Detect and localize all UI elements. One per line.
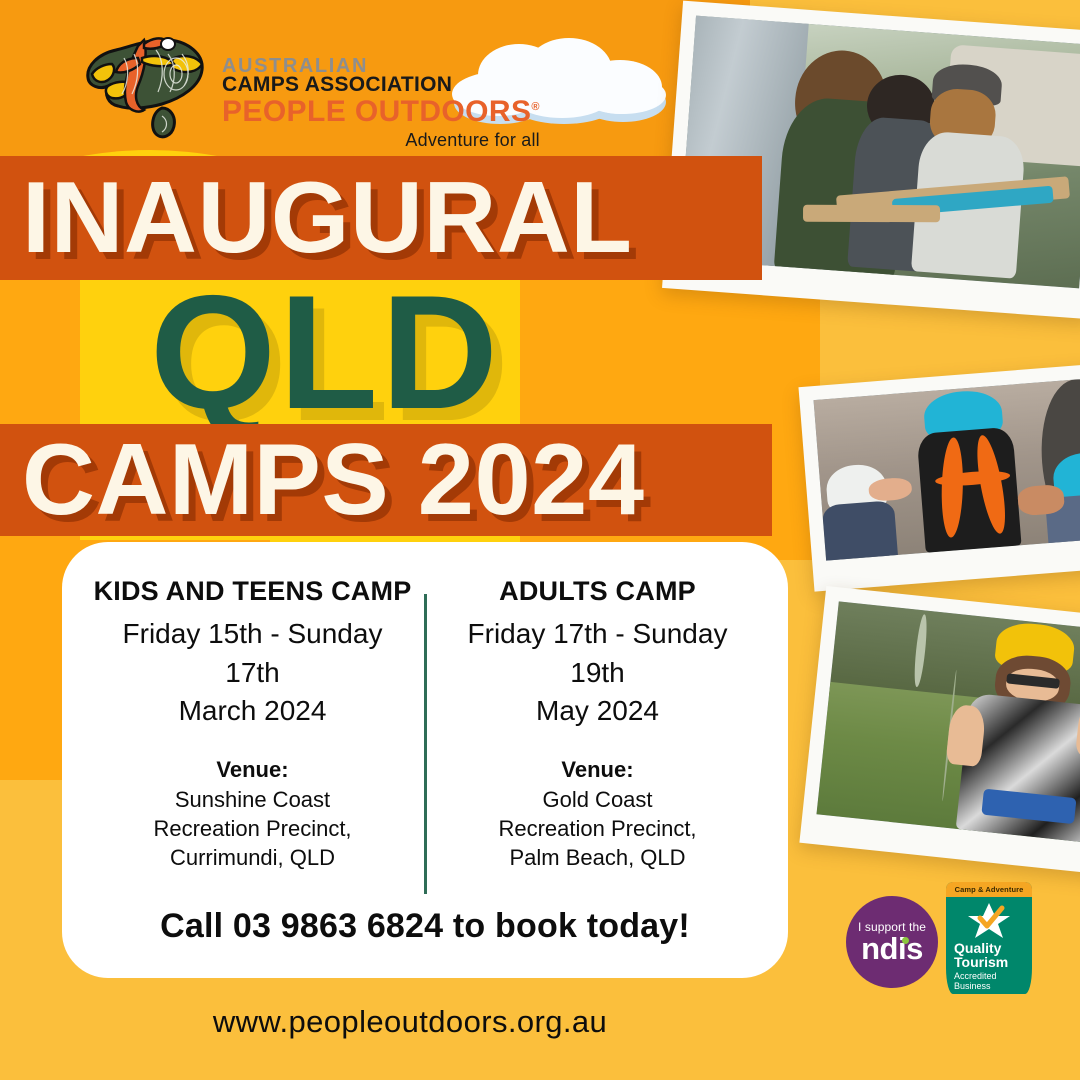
poster-canvas: AUSTRALIAN CAMPS ASSOCIATION PEOPLE OUTD…: [0, 0, 1080, 1080]
website-url[interactable]: www.peopleoutdoors.org.au: [0, 1004, 820, 1040]
venue-label-adults: Venue:: [437, 757, 758, 783]
climbing-highfive-photo: [798, 361, 1080, 591]
camp-column-kids-teens: KIDS AND TEENS CAMP Friday 15th - Sunday…: [80, 576, 425, 872]
camp-title-adults: ADULTS CAMP: [437, 576, 758, 607]
venue-address-adults: Gold Coast Recreation Precinct, Palm Bea…: [437, 785, 758, 872]
headline-band-camps: CAMPS 2024: [0, 424, 772, 536]
call-to-action-phone[interactable]: Call 03 9863 6824 to book today!: [80, 907, 770, 958]
headline-camps-2024: CAMPS 2024: [0, 430, 645, 531]
thumbs-up-participant-photo: [799, 586, 1080, 876]
logo-tagline: Adventure for all: [222, 131, 540, 149]
quality-tourism-ribbon: Camp & Adventure: [946, 882, 1032, 897]
venue-address-kids-teens: Sunshine Coast Recreation Precinct, Curr…: [92, 785, 413, 872]
accreditation-badges: I support the ndis Camp & Adventure Qual…: [846, 882, 1032, 994]
australia-map-indigenous-art-icon: [78, 24, 214, 144]
logo-people-outdoors-text: PEOPLE OUTDOORS: [222, 95, 531, 128]
climbing-photo-image: [814, 376, 1080, 560]
ndis-word-text: ndis: [861, 931, 923, 966]
qt-name-line2: Tourism: [954, 955, 1032, 969]
logo-line-people-outdoors: PEOPLE OUTDOORS®: [222, 97, 540, 128]
quality-tourism-subtitle: Accredited Business: [946, 971, 1032, 992]
brand-logo: AUSTRALIAN CAMPS ASSOCIATION PEOPLE OUTD…: [78, 24, 540, 150]
venue-line2: Recreation Precinct,: [437, 814, 758, 843]
venue-label-kids-teens: Venue:: [92, 757, 413, 783]
headline-qld: QLD: [150, 272, 501, 434]
venue-line1: Gold Coast: [437, 785, 758, 814]
registered-trademark-icon: ®: [531, 101, 540, 113]
camp-column-adults: ADULTS CAMP Friday 17th - Sunday 19th Ma…: [425, 576, 770, 872]
qt-sub-line1: Accredited: [954, 971, 1032, 981]
qt-sub-line2: Business: [954, 981, 1032, 991]
headline-inaugural: INAUGURAL: [0, 168, 632, 269]
camp-dates-adults: Friday 17th - Sunday 19th May 2024: [437, 615, 758, 731]
venue-line3: Palm Beach, QLD: [437, 843, 758, 872]
thumbsup-photo-image: [816, 601, 1080, 844]
camp-title-kids-teens: KIDS AND TEENS CAMP: [92, 576, 413, 607]
column-divider: [424, 594, 427, 894]
quality-tourism-badge: Camp & Adventure Quality Tourism Accredi…: [946, 882, 1032, 994]
venue-line1: Sunshine Coast: [92, 785, 413, 814]
quality-tourism-name: Quality Tourism: [946, 941, 1032, 969]
camp-dates-line2: March 2024: [92, 692, 413, 731]
ndis-badge: I support the ndis: [846, 896, 938, 988]
star-tick-icon: [966, 901, 1012, 939]
camp-dates-line1: Friday 15th - Sunday 17th: [92, 615, 413, 692]
camp-details-card: KIDS AND TEENS CAMP Friday 15th - Sunday…: [62, 542, 788, 978]
venue-line3: Currimundi, QLD: [92, 843, 413, 872]
camp-dates-kids-teens: Friday 15th - Sunday 17th March 2024: [92, 615, 413, 731]
logo-line-camps-association: CAMPS ASSOCIATION: [222, 74, 540, 95]
qt-name-line1: Quality: [954, 941, 1032, 955]
camp-dates-line2: May 2024: [437, 692, 758, 731]
venue-line2: Recreation Precinct,: [92, 814, 413, 843]
camp-columns: KIDS AND TEENS CAMP Friday 15th - Sunday…: [80, 576, 770, 872]
camp-dates-line1: Friday 17th - Sunday 19th: [437, 615, 758, 692]
ndis-wordmark: ndis: [861, 934, 923, 963]
